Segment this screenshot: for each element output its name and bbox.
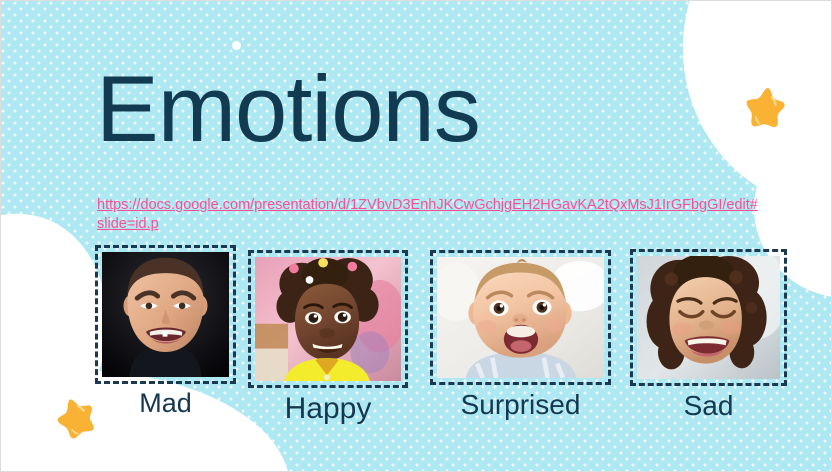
confetti-dot bbox=[788, 195, 799, 209]
photo-sad bbox=[637, 256, 780, 379]
emotion-card-surprised[interactable]: Surprised bbox=[430, 250, 611, 385]
emotion-card-happy[interactable]: Happy bbox=[248, 250, 408, 388]
photo-surprised bbox=[437, 257, 604, 378]
dashed-photo-frame bbox=[630, 249, 787, 386]
dashed-photo-frame bbox=[430, 250, 611, 385]
confetti-dot bbox=[232, 41, 241, 50]
emotion-card-sad[interactable]: Sad bbox=[630, 249, 787, 386]
dashed-photo-frame bbox=[248, 250, 408, 388]
emotion-card-caption: Surprised bbox=[430, 389, 611, 421]
slide-canvas: Emotions https://docs.google.com/present… bbox=[0, 0, 832, 472]
confetti-dot bbox=[239, 442, 247, 453]
decorative-blob-bottom-left bbox=[0, 370, 290, 472]
star-icon bbox=[739, 82, 791, 134]
page-title: Emotions bbox=[96, 62, 480, 156]
photo-happy bbox=[255, 257, 401, 381]
emotion-card-caption: Mad bbox=[95, 388, 236, 419]
presentation-link[interactable]: https://docs.google.com/presentation/d/1… bbox=[97, 196, 762, 234]
emotion-card-caption: Happy bbox=[248, 392, 408, 426]
confetti-dot bbox=[75, 343, 88, 356]
emotion-card-mad[interactable]: Mad bbox=[95, 245, 236, 384]
dashed-photo-frame bbox=[95, 245, 236, 384]
photo-mad bbox=[102, 252, 229, 377]
emotion-card-caption: Sad bbox=[630, 390, 787, 422]
